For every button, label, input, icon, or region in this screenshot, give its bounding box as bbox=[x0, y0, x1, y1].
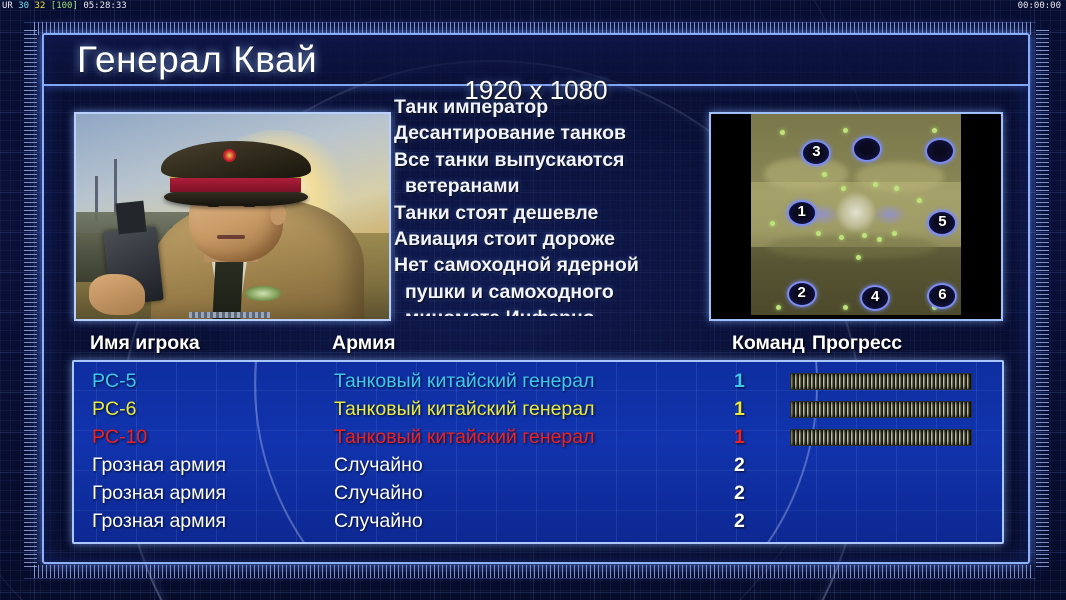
general-abilities-list: Танк император Десантирование танков Все… bbox=[394, 94, 702, 316]
map-start-position[interactable] bbox=[852, 136, 882, 162]
main-panel: Генерал Квай bbox=[42, 33, 1030, 564]
player-name: Грозная армия bbox=[92, 454, 226, 477]
portrait-hand bbox=[89, 274, 145, 315]
map-resource-dot bbox=[932, 128, 937, 133]
player-team: 1 bbox=[734, 426, 745, 449]
map-start-position-label: 4 bbox=[871, 288, 879, 305]
map-resource-dot bbox=[862, 233, 867, 238]
player-team: 2 bbox=[734, 454, 745, 477]
map-terrain-blob bbox=[768, 235, 936, 259]
frame-ruler-bottom bbox=[34, 565, 1034, 578]
ability-line: миномета Инферно bbox=[394, 305, 702, 316]
map-start-position[interactable]: 2 bbox=[787, 281, 817, 307]
ability-line: Авиация стоит дороже bbox=[394, 226, 702, 252]
hud-timer: 00:00:00 bbox=[1018, 1, 1061, 11]
map-start-position[interactable]: 4 bbox=[860, 285, 890, 311]
player-progress-bar bbox=[790, 401, 972, 418]
general-info-row: Танк император Десантирование танков Все… bbox=[44, 84, 1028, 329]
player-table-header: Имя игрока Армия Команд Прогресс bbox=[44, 332, 1028, 360]
map-resource-dot bbox=[892, 231, 897, 236]
player-army: Танковый китайский генерал bbox=[334, 398, 595, 421]
frame-ruler-left bbox=[24, 30, 37, 570]
portrait-tie bbox=[212, 258, 243, 320]
hud-seg-3: [100] bbox=[51, 1, 78, 11]
table-row[interactable]: PC-10 Танковый китайский генерал 1 bbox=[74, 426, 1002, 451]
table-row[interactable]: PC-5 Танковый китайский генерал 1 bbox=[74, 370, 1002, 395]
map-start-position-label: 1 bbox=[798, 203, 806, 220]
hud-seg-2: 32 bbox=[35, 1, 46, 11]
map-preview[interactable]: 3 1 5 2 4 6 bbox=[709, 112, 1003, 321]
column-header-army: Армия bbox=[332, 332, 396, 355]
player-table: PC-5 Танковый китайский генерал 1 PC-6 Т… bbox=[72, 360, 1004, 544]
player-army: Танковый китайский генерал bbox=[334, 370, 595, 393]
map-start-position-label: 6 bbox=[938, 286, 946, 303]
ability-line: Десантирование танков bbox=[394, 120, 702, 146]
game-screen: UR 30 32 [100] 05:28:33 00:00:00 Генерал… bbox=[0, 0, 1066, 600]
player-name: Грозная армия bbox=[92, 510, 226, 533]
map-image: 3 1 5 2 4 6 bbox=[751, 114, 961, 315]
portrait-cap-band bbox=[170, 176, 301, 192]
map-start-position-label: 3 bbox=[812, 143, 820, 160]
portrait-insignia-icon bbox=[245, 286, 281, 301]
player-progress-bar bbox=[790, 429, 972, 446]
hud-seg-4: 05:28:33 bbox=[83, 1, 126, 11]
ability-line: Нет самоходной ядерной bbox=[394, 252, 702, 278]
map-start-position[interactable]: 1 bbox=[787, 200, 817, 226]
map-start-position-label: 5 bbox=[938, 213, 946, 230]
frame-ruler-right bbox=[1036, 30, 1049, 570]
general-portrait bbox=[74, 112, 391, 321]
map-resource-dot bbox=[770, 221, 775, 226]
map-start-position-label: 2 bbox=[798, 284, 806, 301]
resolution-label: 1920 x 1080 bbox=[44, 75, 1028, 106]
player-progress-bar bbox=[790, 373, 972, 390]
ability-line: Танки стоят дешевле bbox=[394, 200, 702, 226]
player-army: Случайно bbox=[334, 482, 423, 505]
ability-line: Все танки выпускаются bbox=[394, 147, 702, 173]
map-resource-dot bbox=[816, 231, 821, 236]
player-team: 2 bbox=[734, 482, 745, 505]
player-name: Грозная армия bbox=[92, 482, 226, 505]
portrait-mouth bbox=[217, 235, 245, 239]
table-row[interactable]: Грозная армия Случайно 2 bbox=[74, 482, 1002, 507]
column-header-progress: Прогресс bbox=[812, 332, 902, 355]
player-army: Случайно bbox=[334, 454, 423, 477]
map-resource-dot bbox=[877, 237, 882, 242]
portrait-medal-bar bbox=[189, 312, 270, 318]
portrait-ear bbox=[270, 204, 286, 225]
hud-seg-0: UR bbox=[2, 1, 13, 11]
map-start-position[interactable]: 6 bbox=[927, 283, 957, 309]
player-name: PC-6 bbox=[92, 398, 136, 421]
table-row[interactable]: Грозная армия Случайно 2 bbox=[74, 454, 1002, 479]
column-header-team: Команд bbox=[732, 332, 805, 355]
player-army: Танковый китайский генерал bbox=[334, 426, 595, 449]
player-team: 1 bbox=[734, 370, 745, 393]
player-team: 2 bbox=[734, 510, 745, 533]
hud-seg-1: 30 bbox=[18, 1, 29, 11]
table-row[interactable]: PC-6 Танковый китайский генерал 1 bbox=[74, 398, 1002, 423]
player-name: PC-5 bbox=[92, 370, 136, 393]
table-row[interactable]: Грозная армия Случайно 2 bbox=[74, 510, 1002, 535]
player-team: 1 bbox=[734, 398, 745, 421]
map-terrain-blob bbox=[856, 162, 944, 192]
player-army: Случайно bbox=[334, 510, 423, 533]
frame-line-top bbox=[24, 22, 1036, 23]
ability-line: пушки и самоходного bbox=[394, 279, 702, 305]
portrait-pistol-barrel bbox=[115, 201, 146, 235]
hud-status-left: UR 30 32 [100] 05:28:33 bbox=[2, 1, 127, 11]
frame-line-bottom bbox=[24, 578, 1036, 579]
map-resource-dot bbox=[856, 255, 861, 260]
portrait-cap-emblem-icon bbox=[223, 149, 236, 162]
player-name: PC-10 bbox=[92, 426, 147, 449]
column-header-player: Имя игрока bbox=[90, 332, 200, 355]
map-resource-dot bbox=[839, 235, 844, 240]
ability-line: ветеранами bbox=[394, 173, 702, 199]
